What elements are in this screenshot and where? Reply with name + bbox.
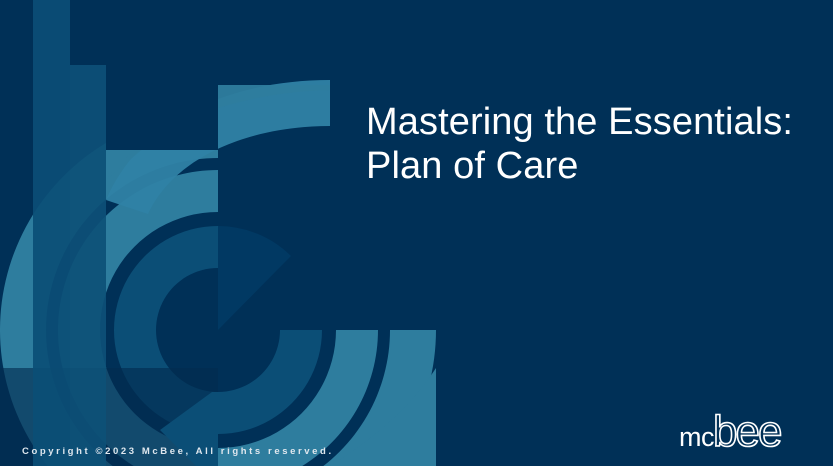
- title-line-2: Plan of Care: [366, 144, 806, 188]
- logo-text-bee: bee: [713, 408, 781, 454]
- ring-inner-blue: [114, 226, 322, 434]
- copyright-notice: Copyright ©2023 McBee, All rights reserv…: [22, 446, 334, 457]
- page-title: Mastering the Essentials: Plan of Care: [366, 100, 806, 188]
- monogram-bar-short: [70, 65, 106, 466]
- title-slide: Mastering the Essentials: Plan of Care C…: [0, 0, 833, 466]
- upper-gap-navy-fill: [106, 0, 218, 150]
- title-line-1: Mastering the Essentials:: [366, 100, 806, 144]
- ring-second-teal: [58, 170, 378, 466]
- inner-sector-dark: [218, 226, 291, 330]
- mcbee-logo: mc bee: [677, 408, 807, 454]
- background-base: [0, 0, 833, 466]
- monogram-bar-tall: [33, 0, 70, 466]
- logo-text-mc: mc: [679, 422, 714, 452]
- lower-right-teal-wedge: [330, 368, 436, 466]
- upper-left-navy-fill: [0, 0, 33, 188]
- top-teal-slab: [106, 85, 330, 180]
- mcbee-monogram-background-graphic: [0, 0, 833, 466]
- upper-arc-band: [106, 80, 330, 214]
